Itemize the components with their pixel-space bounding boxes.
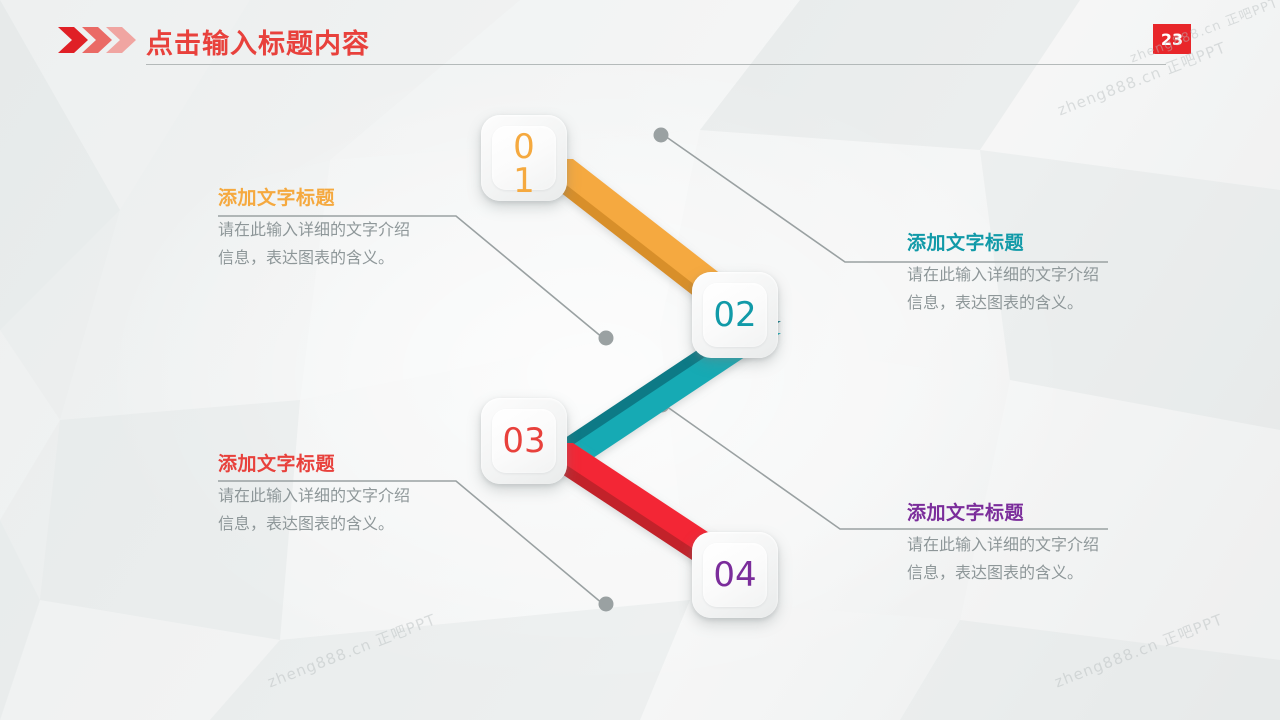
step-number-inner-03: 03 (492, 409, 556, 473)
text-block-heading-step2: 添加文字标题 (899, 228, 1159, 255)
step-number-label-04: 04 (713, 558, 756, 592)
step-number-label-03: 03 (502, 424, 545, 458)
text-block-body-step4: 请在此输入详细的文字介绍信息，表达图表的含义。 (899, 531, 1112, 586)
step-number-inner-01: 01 (492, 126, 556, 190)
text-block-body-step1: 请在此输入详细的文字介绍信息，表达图表的含义。 (210, 216, 423, 271)
text-block-body-step2: 请在此输入详细的文字介绍信息，表达图表的含义。 (899, 261, 1112, 316)
text-block-step3[interactable]: 添加文字标题 请在此输入详细的文字介绍信息，表达图表的含义。 (210, 449, 470, 537)
leader-dot-step2 (654, 128, 669, 143)
text-block-body-step3: 请在此输入详细的文字介绍信息，表达图表的含义。 (210, 482, 423, 537)
step-number-label-01: 01 (511, 130, 537, 198)
step-number-box-04[interactable]: 04 (692, 532, 778, 618)
text-block-step2[interactable]: 添加文字标题 请在此输入详细的文字介绍信息，表达图表的含义。 (899, 228, 1159, 316)
step-number-box-03[interactable]: 03 (481, 398, 567, 484)
text-block-step1[interactable]: 添加文字标题 请在此输入详细的文字介绍信息，表达图表的含义。 (210, 183, 470, 271)
text-block-heading-step3: 添加文字标题 (210, 449, 470, 476)
leader-dot-step3 (599, 597, 614, 612)
step-number-box-02[interactable]: 02 (692, 272, 778, 358)
step-number-box-01[interactable]: 01 (481, 115, 567, 201)
step-number-label-02: 02 (713, 298, 756, 332)
slide-canvas: 点击输入标题内容 23 (0, 0, 1280, 720)
step-number-inner-04: 04 (703, 543, 767, 607)
text-block-heading-step1: 添加文字标题 (210, 183, 470, 210)
step-number-inner-02: 02 (703, 283, 767, 347)
process-diagram-graphic (0, 0, 1280, 720)
leader-dot-step1 (599, 331, 614, 346)
text-block-step4[interactable]: 添加文字标题 请在此输入详细的文字介绍信息，表达图表的含义。 (899, 498, 1159, 586)
text-block-heading-step4: 添加文字标题 (899, 498, 1159, 525)
